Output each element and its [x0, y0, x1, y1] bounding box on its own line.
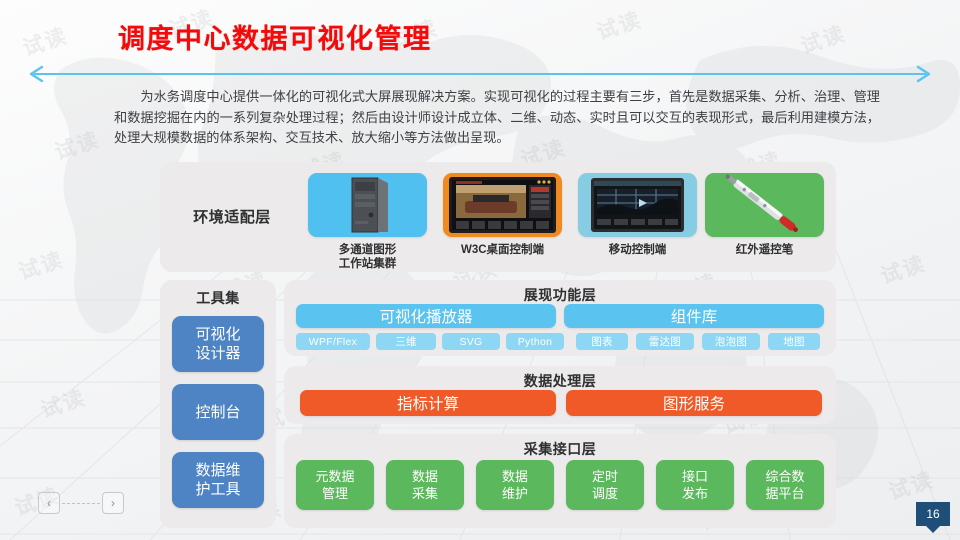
display-group-visual-player[interactable]: 可视化播放器 [296, 304, 556, 328]
process-item-label: 图形服务 [663, 392, 725, 414]
page-number: 16 [926, 507, 939, 521]
watermark-text: 试读 [796, 18, 849, 61]
tool-chip-label: 可视化设计器 [195, 325, 240, 363]
acquire-item-integrated-data-platform[interactable]: 综合数据平台 [746, 460, 824, 510]
process-item-metric-calculation[interactable]: 指标计算 [300, 390, 556, 416]
acquire-item-data-maintenance[interactable]: 数据维护 [476, 460, 554, 510]
tool-chip-label: 控制台 [195, 403, 240, 422]
display-chip-python[interactable]: Python [506, 333, 564, 350]
previous-slide-button[interactable]: ‹ [38, 492, 60, 514]
env-card-infrared-pen[interactable]: 红外遥控笔 [705, 173, 824, 257]
acquire-layer-title: 采集接口层 [284, 434, 836, 459]
server-tower-thumb [308, 173, 427, 237]
acquire-item-label: 接口发布 [682, 468, 708, 502]
acquire-item-label: 元数据管理 [315, 468, 354, 502]
display-layer-title: 展现功能层 [284, 280, 836, 305]
watermark-text: 试读 [14, 244, 67, 287]
acquire-item-label: 综合数据平台 [765, 468, 804, 502]
display-chip-3d[interactable]: 三维 [376, 333, 436, 350]
acquire-item-label: 定时调度 [592, 468, 618, 502]
acquire-item-label: 数据维护 [502, 468, 528, 502]
watermark-text: 试读 [876, 248, 929, 291]
watermark-text: 试读 [50, 124, 103, 167]
environment-layer-label: 环境适配层 [176, 206, 288, 227]
display-chip-bubble-chart[interactable]: 泡泡图 [702, 333, 760, 350]
watermark-text: 试读 [592, 4, 645, 47]
display-layer-panel: 展现功能层 可视化播放器 组件库 WPF/Flex 三维 SVG Python … [284, 280, 836, 356]
slide-navigation: ‹ › [38, 492, 124, 518]
tools-panel: 工具集 可视化设计器 控制台 数据维护工具 [160, 280, 276, 528]
display-group-label: 可视化播放器 [379, 305, 472, 327]
env-card-caption: W3C桌面控制端 [443, 243, 562, 257]
display-chip-chart[interactable]: 图表 [576, 333, 628, 350]
nav-connector-line [62, 503, 100, 504]
display-chip-radar-chart[interactable]: 雷达图 [636, 333, 694, 350]
env-card-caption: 多通道图形工作站集群 [308, 243, 427, 271]
chevron-left-icon: ‹ [47, 496, 51, 510]
process-layer-title: 数据处理层 [284, 366, 836, 391]
acquire-item-label: 数据采集 [412, 468, 438, 502]
infrared-pen-thumb [705, 173, 824, 237]
environment-layer-panel: 环境适配层 多通道图形工作站集群 [160, 162, 836, 272]
horizontal-double-arrow-rule [22, 64, 938, 84]
chevron-right-icon: › [111, 496, 115, 510]
acquire-item-data-collection[interactable]: 数据采集 [386, 460, 464, 510]
next-slide-button[interactable]: › [102, 492, 124, 514]
intro-paragraph: 为水务调度中心提供一体化的可视化式大屏展现解决方案。实现可视化的过程主要有三步，… [114, 88, 880, 150]
env-card-caption: 移动控制端 [578, 243, 697, 257]
tablet-control-thumb [443, 173, 562, 237]
acquire-item-interface-publish[interactable]: 接口发布 [656, 460, 734, 510]
process-layer-panel: 数据处理层 指标计算 图形服务 [284, 366, 836, 424]
tool-chip-console[interactable]: 控制台 [172, 384, 264, 440]
display-group-label: 组件库 [671, 305, 718, 327]
display-group-component-library[interactable]: 组件库 [564, 304, 824, 328]
watermark-text: 试读 [18, 20, 71, 63]
mobile-control-thumb [578, 173, 697, 237]
env-card-caption: 红外遥控笔 [705, 243, 824, 257]
watermark-text: 试读 [36, 382, 89, 425]
process-item-label: 指标计算 [397, 392, 459, 414]
display-chip-map[interactable]: 地图 [768, 333, 820, 350]
page-title-wrapper: 调度中心数据可视化管理 [118, 26, 432, 53]
page-number-badge: 16 [916, 502, 950, 526]
watermark-text: 试读 [884, 464, 937, 507]
tool-chip-label: 数据维护工具 [195, 461, 240, 499]
display-chip-wpf-flex[interactable]: WPF/Flex [296, 333, 370, 350]
acquire-layer-panel: 采集接口层 元数据管理 数据采集 数据维护 定时调度 接口发布 综合数据平台 [284, 434, 836, 528]
env-card-workstation[interactable]: 多通道图形工作站集群 [308, 173, 427, 271]
acquire-item-scheduled-dispatch[interactable]: 定时调度 [566, 460, 644, 510]
acquire-item-metadata-management[interactable]: 元数据管理 [296, 460, 374, 510]
tool-chip-data-maintenance[interactable]: 数据维护工具 [172, 452, 264, 508]
env-card-w3c-desktop[interactable]: W3C桌面控制端 [443, 173, 562, 257]
env-card-mobile[interactable]: 移动控制端 [578, 173, 697, 257]
process-item-graphics-service[interactable]: 图形服务 [566, 390, 822, 416]
display-chip-svg[interactable]: SVG [442, 333, 500, 350]
tools-panel-title: 工具集 [160, 288, 276, 308]
tool-chip-visual-designer[interactable]: 可视化设计器 [172, 316, 264, 372]
page-title: 调度中心数据可视化管理 [118, 26, 432, 53]
